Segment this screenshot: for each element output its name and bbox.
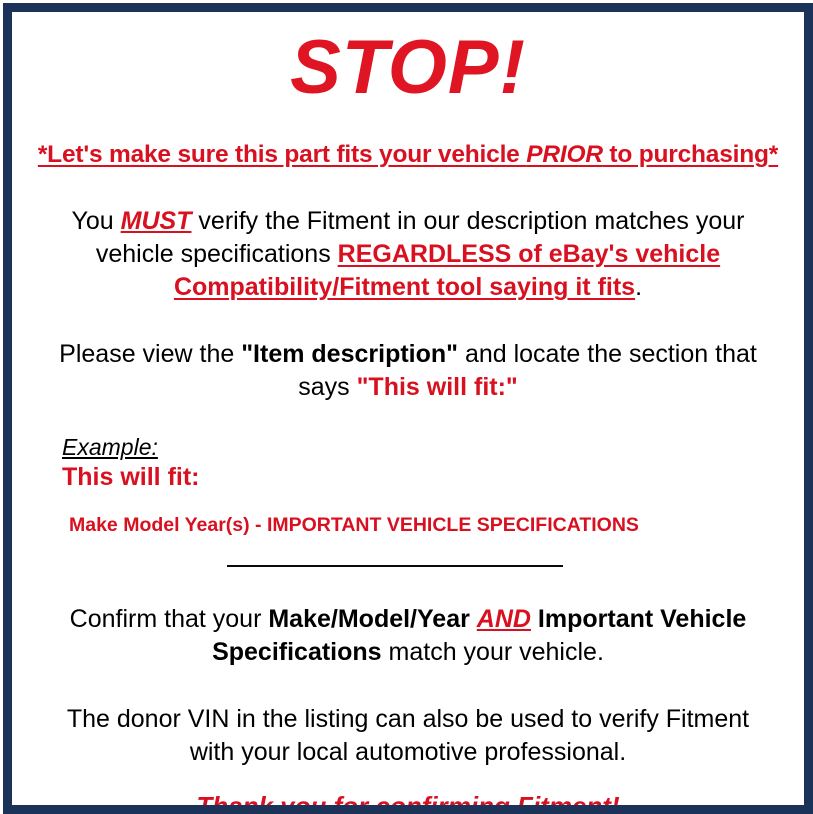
example-label: Example:: [62, 434, 158, 460]
subtitle-lead: *Let's make sure this part fits your veh…: [38, 141, 526, 168]
paragraph-item-description: Please view the "Item description" and l…: [26, 338, 790, 404]
confirm-space-1: [470, 605, 477, 633]
and-emphasis: AND: [477, 605, 531, 633]
item-description-emphasis: "Item description": [241, 340, 458, 368]
confirm-space-2: [531, 605, 538, 633]
view-text-1: Please view the: [59, 340, 241, 368]
example-block: Example: This will fit: Make Model Year(…: [26, 434, 790, 537]
divider-wrap: [26, 559, 790, 573]
notice-body: STOP! *Let's make sure this part fits yo…: [12, 30, 804, 814]
must-text-3: .: [635, 273, 642, 301]
confirm-text-1: Confirm that your: [70, 605, 269, 633]
section-divider: [227, 565, 563, 567]
notice-border: STOP! *Let's make sure this part fits yo…: [3, 3, 813, 814]
make-model-year-emphasis: Make/Model/Year: [268, 605, 469, 633]
subtitle-prior-emphasis: PRIOR: [526, 141, 603, 168]
example-label-row: Example:: [62, 434, 790, 460]
must-emphasis: MUST: [121, 207, 192, 235]
example-fit-heading: This will fit:: [62, 462, 790, 492]
fitment-subtitle: *Let's make sure this part fits your veh…: [26, 140, 790, 169]
this-will-fit-quote: "This will fit:": [357, 373, 518, 401]
stop-headline: STOP!: [26, 30, 790, 106]
paragraph-confirm-match: Confirm that your Make/Model/Year AND Im…: [26, 603, 790, 669]
must-text-1: You: [72, 207, 121, 235]
subtitle-tail: to purchasing*: [603, 141, 778, 168]
confirm-text-2: match your vehicle.: [382, 638, 604, 666]
thank-you-line: Thank you for confirming Fitment!: [26, 791, 790, 814]
notice-frame: STOP! *Let's make sure this part fits yo…: [0, 0, 813, 814]
paragraph-must-verify: You MUST verify the Fitment in our descr…: [26, 205, 790, 304]
example-spec-line: Make Model Year(s) - IMPORTANT VEHICLE S…: [62, 514, 790, 537]
paragraph-donor-vin: The donor VIN in the listing can also be…: [26, 703, 790, 769]
